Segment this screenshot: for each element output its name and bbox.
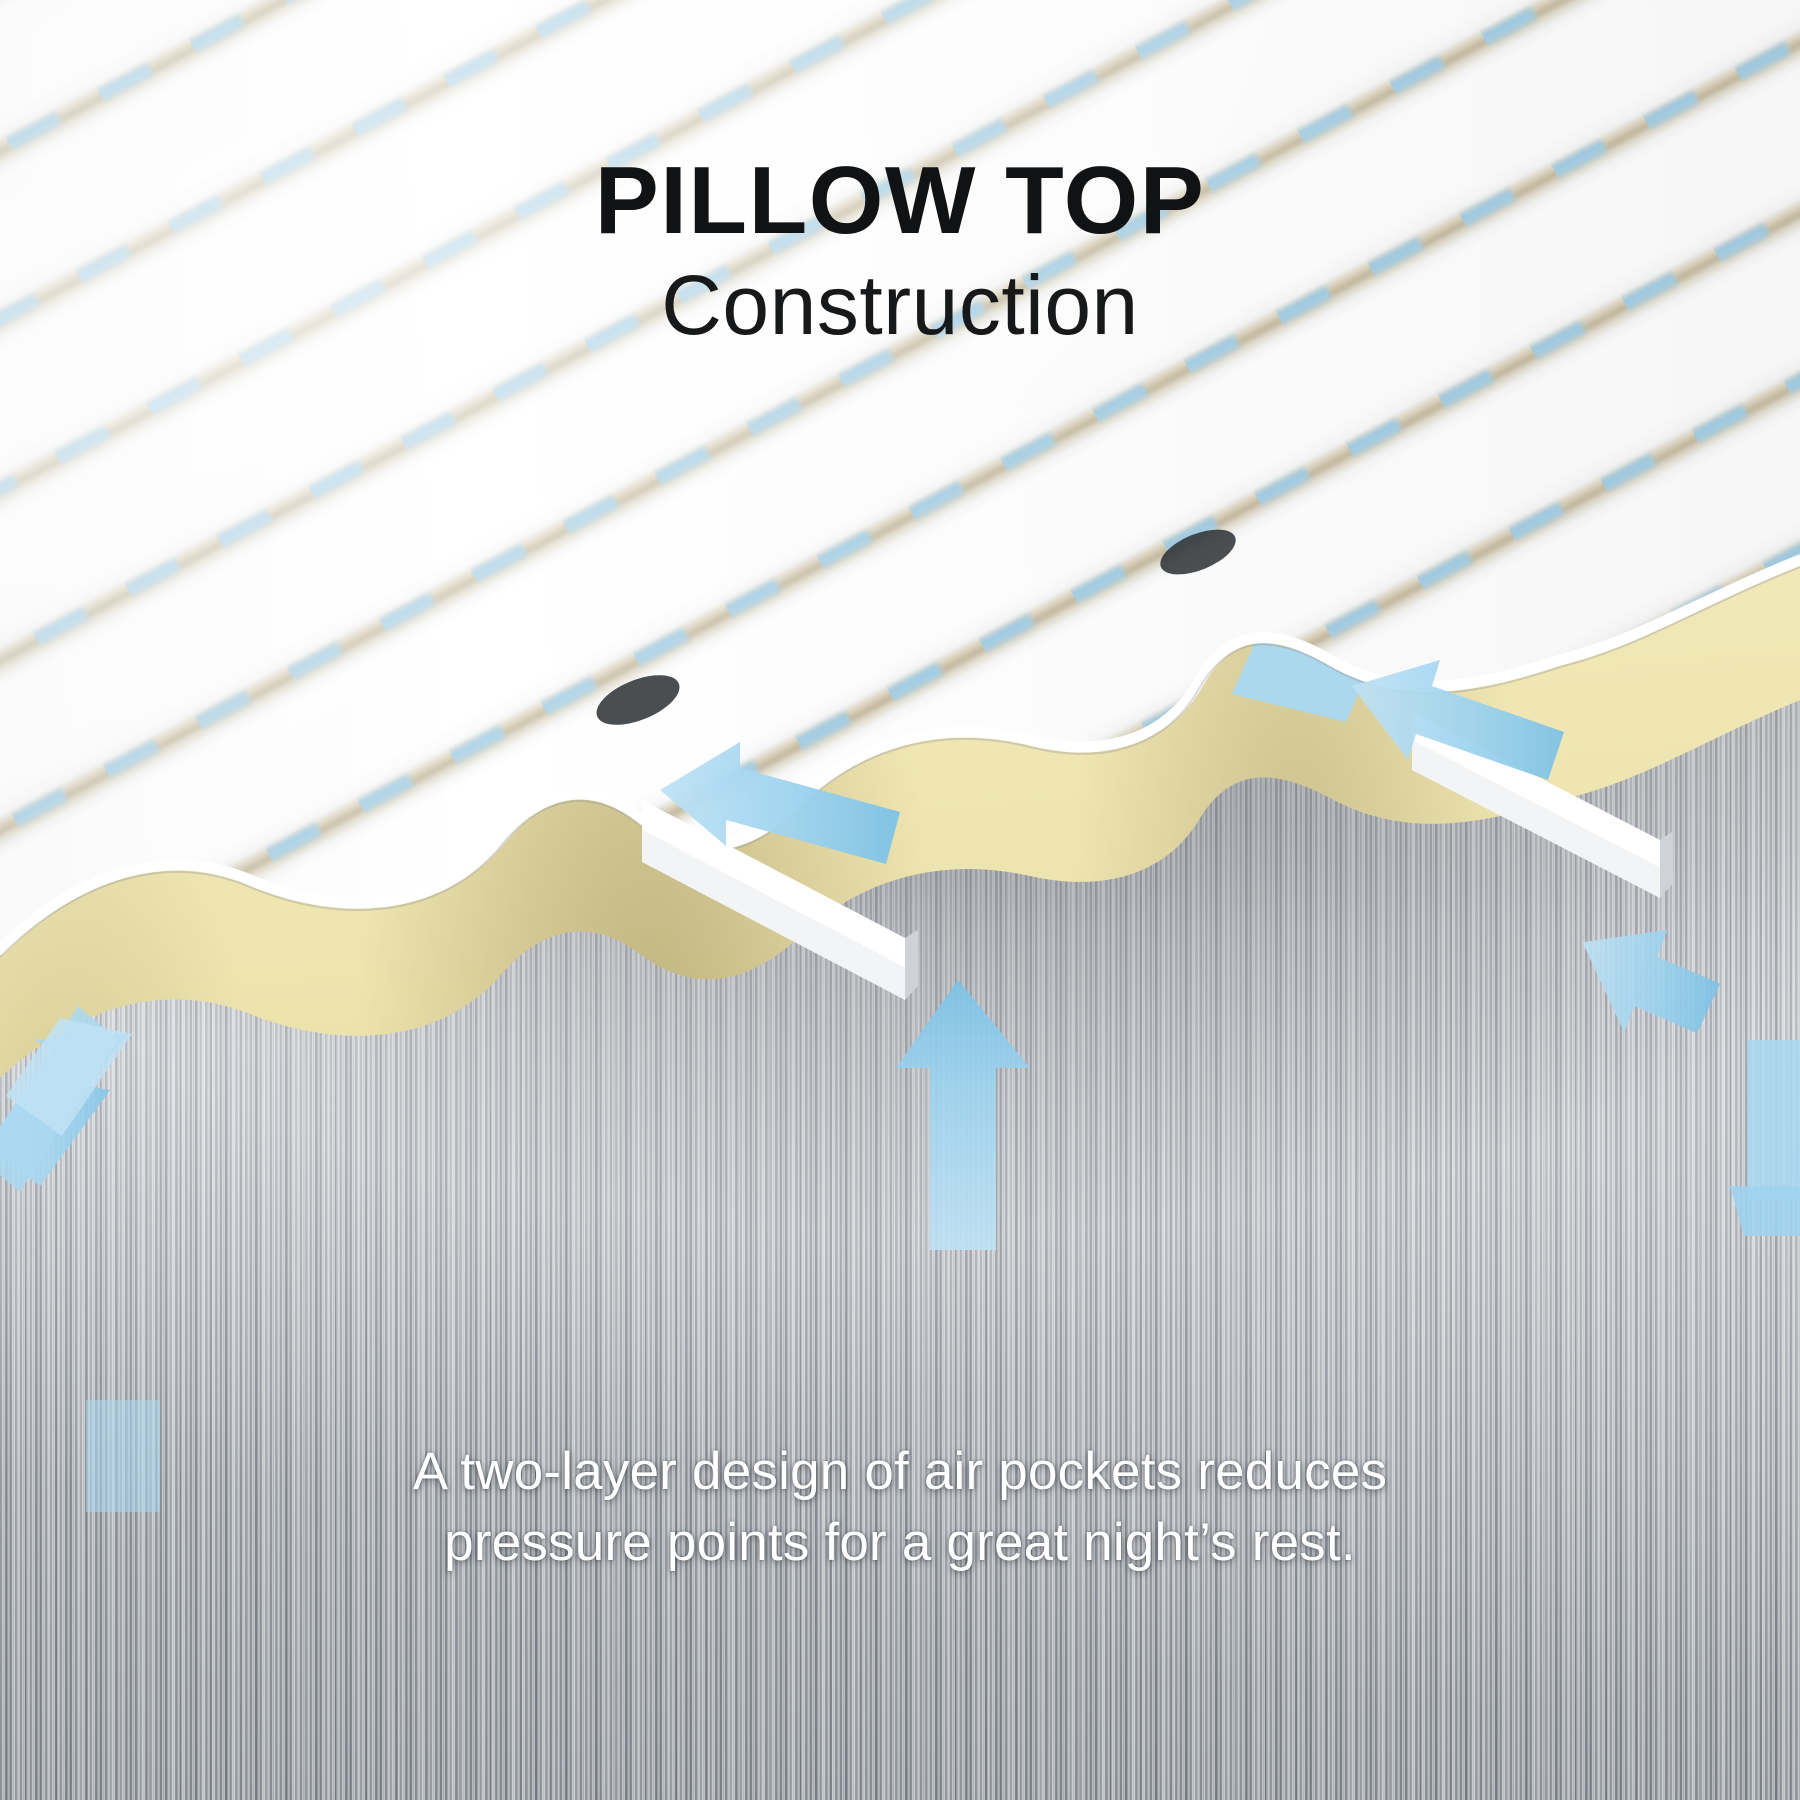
infographic-canvas: PILLOW TOP Construction A two-layer desi… [0,0,1800,1800]
